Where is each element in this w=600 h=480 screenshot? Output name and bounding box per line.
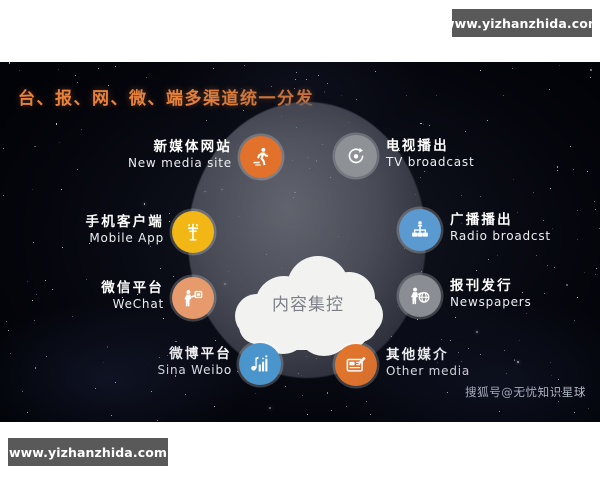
label-en: Radio broadcst (450, 229, 551, 243)
slide-title: 台、报、网、微、端多渠道统一分发 (18, 84, 314, 109)
label-mobile-app: 手机客户端 Mobile App (0, 215, 164, 245)
node-newspapers[interactable] (399, 275, 441, 317)
antenna-tower-icon (182, 221, 204, 243)
label-en: TV broadcast (386, 155, 474, 169)
node-sina-weibo[interactable] (239, 343, 281, 385)
label-en: New media site (40, 156, 232, 170)
label-radio-broadcast: 广播播出 Radio broadcst (450, 213, 551, 243)
network-nodes-icon (409, 219, 431, 241)
newspaper-pen-icon (345, 354, 367, 376)
sohu-credit: 搜狐号@无忧知识星球 (465, 384, 586, 400)
running-person-icon (250, 146, 272, 168)
label-cn: 电视播出 (386, 139, 474, 155)
node-new-media-site[interactable] (240, 136, 282, 178)
node-radio-broadcast[interactable] (399, 209, 441, 251)
person-presenting-icon (182, 287, 204, 309)
label-cn: 手机客户端 (0, 215, 164, 231)
label-newspapers: 报刊发行 Newspapers (450, 279, 532, 309)
label-cn: 新媒体网站 (40, 140, 232, 156)
watermark-top: www.yizhanzhida.com (452, 9, 592, 37)
label-cn: 微信平台 (8, 281, 164, 297)
node-mobile-app[interactable] (172, 211, 214, 253)
label-en: WeChat (8, 297, 164, 311)
label-sina-weibo: 微博平台 Sina Weibo (60, 347, 232, 377)
node-tv-broadcast[interactable] (335, 135, 377, 177)
label-cn: 广播播出 (450, 213, 551, 229)
satellite-dish-icon (345, 145, 367, 167)
label-new-media-site: 新媒体网站 New media site (40, 140, 232, 170)
slide-stage: 台、报、网、微、端多渠道统一分发 内容集控 新媒体网站 New media si… (0, 62, 600, 422)
label-other-media: 其他媒介 Other media (386, 348, 470, 378)
label-en: Other media (386, 364, 470, 378)
node-other-media[interactable] (335, 344, 377, 386)
label-tv-broadcast: 电视播出 TV broadcast (386, 139, 474, 169)
person-globe-icon (409, 285, 431, 307)
cloud-center-label: 内容集控 (233, 290, 383, 315)
label-en: Mobile App (0, 231, 164, 245)
label-en: Newspapers (450, 295, 532, 309)
watermark-bottom: www.yizhanzhida.com (8, 438, 168, 466)
node-wechat[interactable] (172, 277, 214, 319)
label-cn: 微博平台 (60, 347, 232, 363)
label-en: Sina Weibo (60, 363, 232, 377)
label-cn: 其他媒介 (386, 348, 470, 364)
bar-chart-music-icon (249, 353, 271, 375)
label-cn: 报刊发行 (450, 279, 532, 295)
label-wechat: 微信平台 WeChat (8, 281, 164, 311)
